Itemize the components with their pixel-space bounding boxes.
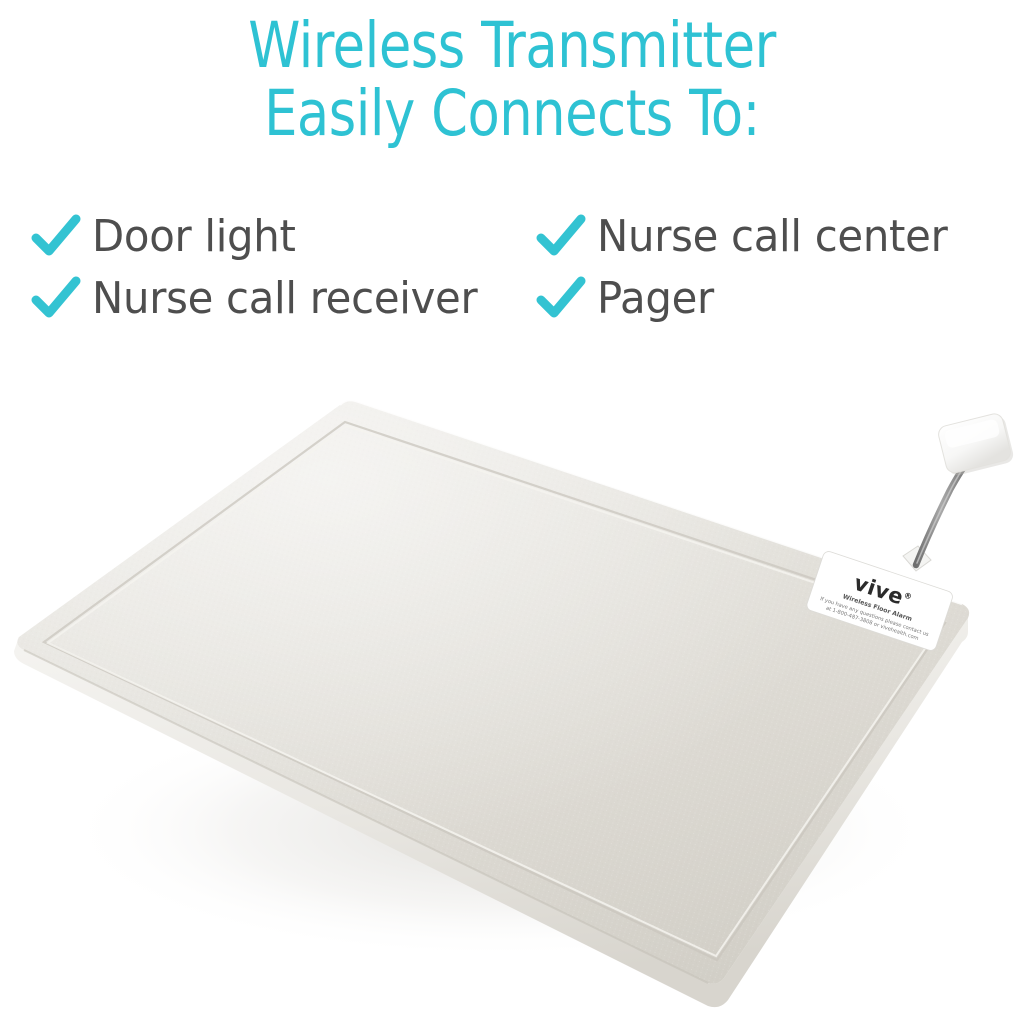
check-icon: [535, 273, 587, 323]
check-icon: [30, 273, 82, 323]
wireless-transmitter: [937, 412, 1015, 478]
feature-column-left: Door light Nurse call receiver: [30, 205, 540, 329]
list-item: Nurse call receiver: [30, 267, 540, 329]
feature-label: Pager: [597, 273, 714, 324]
check-icon: [535, 211, 587, 261]
list-item: Pager: [535, 267, 1024, 329]
headline-line-1: Wireless Transmitter: [36, 16, 988, 76]
feature-list: Door light Nurse call receiver Nurse cal…: [0, 205, 1024, 340]
feature-label: Nurse call receiver: [92, 273, 477, 324]
feature-column-right: Nurse call center Pager: [535, 205, 1024, 329]
check-icon: [30, 211, 82, 261]
list-item: Door light: [30, 205, 540, 267]
feature-label: Nurse call center: [597, 211, 947, 262]
page-title: Wireless Transmitter Easily Connects To:: [0, 16, 1024, 145]
headline-line-2: Easily Connects To:: [36, 84, 988, 144]
product-marketing-image: Wireless Transmitter Easily Connects To:…: [0, 0, 1024, 1024]
product-photo: vive® Wireless Floor Alarm If you have a…: [0, 360, 1024, 1024]
list-item: Nurse call center: [535, 205, 1024, 267]
feature-label: Door light: [92, 211, 296, 262]
